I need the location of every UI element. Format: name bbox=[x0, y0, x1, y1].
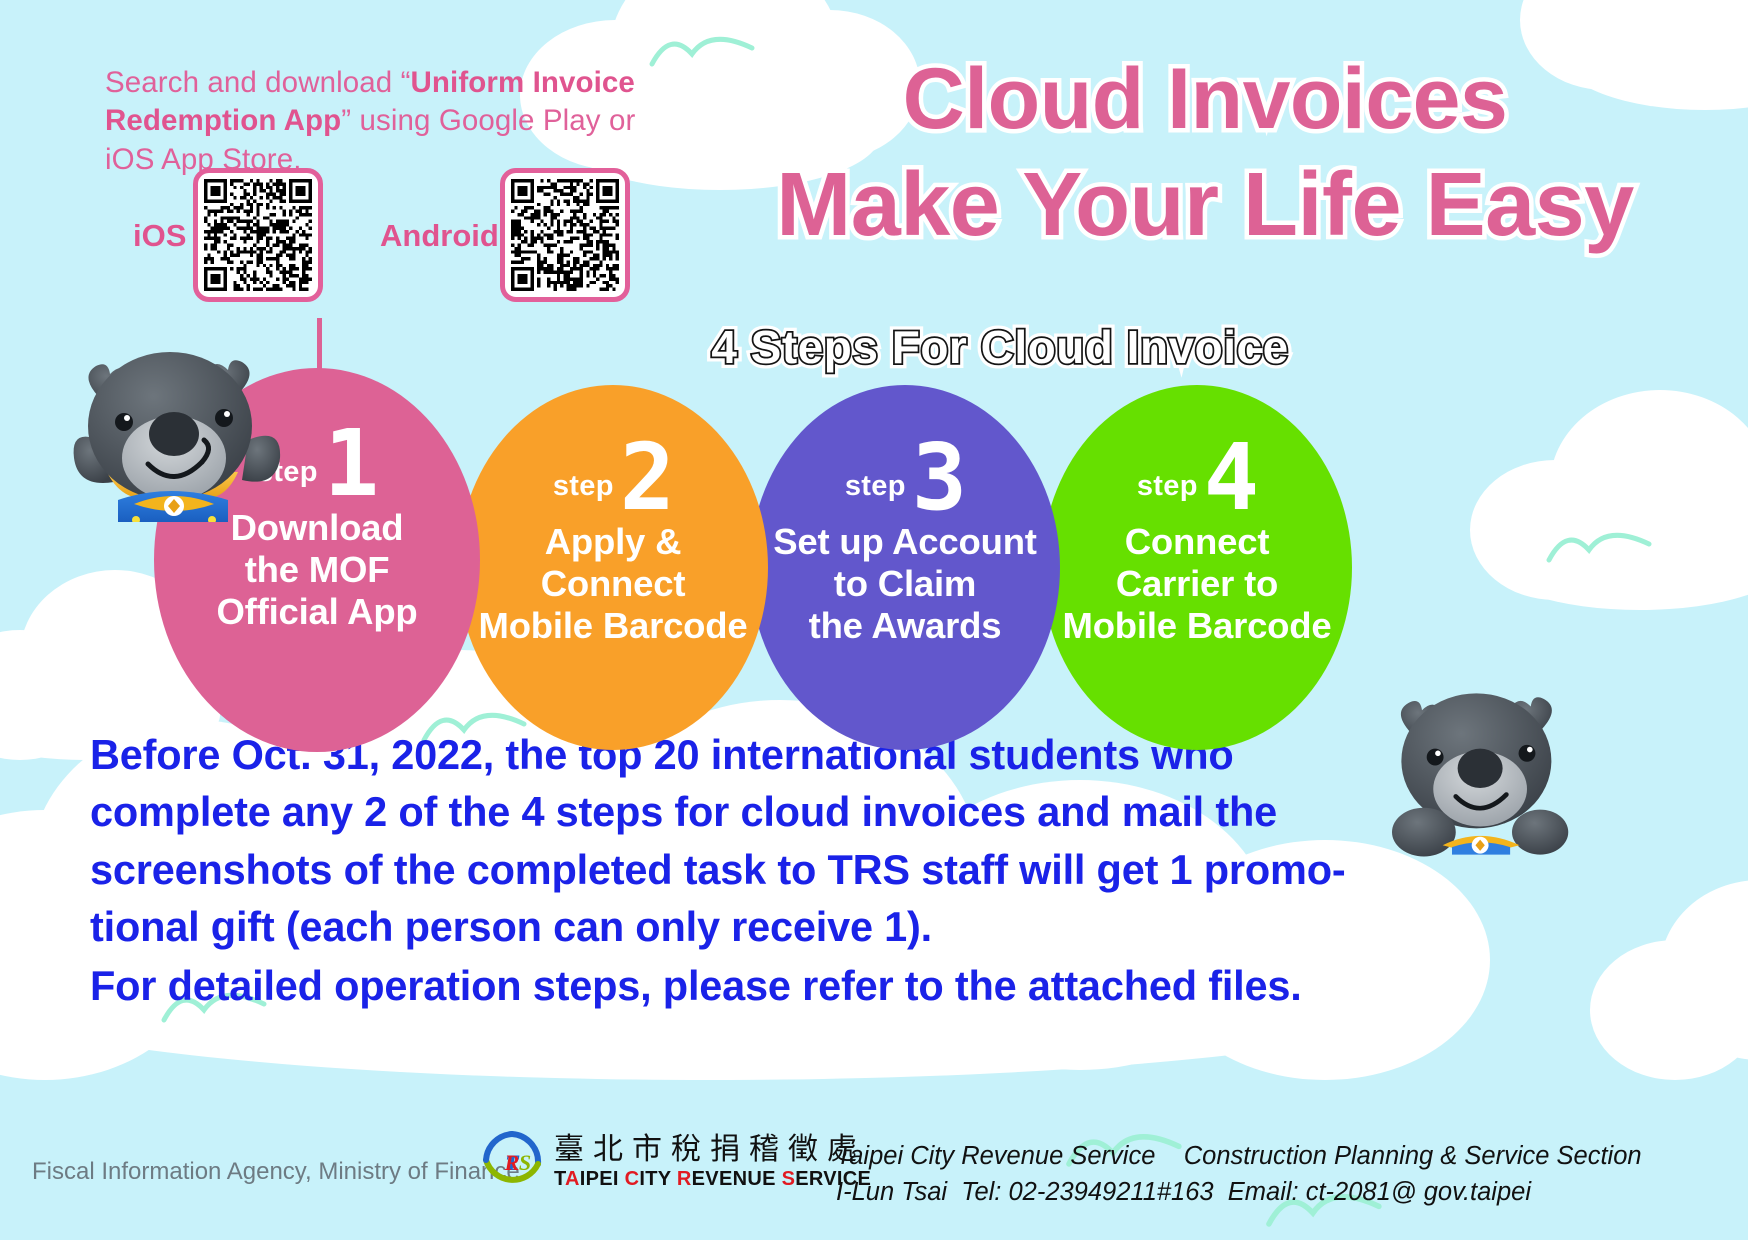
step-2-label: Apply & Connect Mobile Barcode bbox=[479, 521, 748, 646]
title-line-2: Make Your Life Easy bbox=[690, 151, 1720, 259]
qr-label-ios: iOS bbox=[133, 218, 186, 254]
svg-text:S: S bbox=[519, 1150, 531, 1175]
step-3-number: 3 bbox=[912, 440, 965, 515]
footer-agency: Fiscal Information Agency, Ministry of F… bbox=[32, 1158, 520, 1186]
step-3-label: Set up Account to Claim the Awards bbox=[773, 521, 1037, 646]
step-3-number-row: step 3 bbox=[845, 440, 965, 515]
cloud-far-right-low bbox=[1590, 880, 1748, 1080]
bird-icon-right-cloud bbox=[1540, 520, 1660, 570]
app-download-note: Search and download “Uniform Invoice Red… bbox=[105, 64, 680, 179]
step-3-word: step bbox=[845, 472, 906, 501]
poster-canvas: Search and download “Uniform Invoice Red… bbox=[0, 0, 1748, 1240]
footer-contact: Taipei City Revenue Service Construction… bbox=[836, 1138, 1736, 1210]
step-1-number: 1 bbox=[324, 426, 377, 501]
title-line-1: Cloud Invoices bbox=[903, 51, 1508, 147]
step-4-number: 4 bbox=[1204, 440, 1257, 515]
step-circle-3[interactable]: step 3 Set up Account to Claim the Award… bbox=[750, 385, 1060, 750]
footer-contact-line-1: Taipei City Revenue Service Construction… bbox=[836, 1138, 1736, 1174]
qr-label-android: Android bbox=[380, 218, 499, 254]
promo-text: Before Oct. 31, 2022, the top 20 interna… bbox=[90, 726, 1380, 1014]
step-circle-2[interactable]: step 2 Apply & Connect Mobile Barcode bbox=[458, 385, 768, 750]
step-circle-4[interactable]: step 4 Connect Carrier to Mobile Barcode bbox=[1042, 385, 1352, 750]
trs-logo: T S R 臺北市稅捐稽徵處 TAIPEI CITY REVENUE SERVI… bbox=[480, 1130, 871, 1194]
promo-line-5: For detailed operation steps, please ref… bbox=[90, 957, 1380, 1014]
promo-line-3: screenshots of the completed task to TRS… bbox=[90, 841, 1380, 898]
promo-line-4: tional gift (each person can only receiv… bbox=[90, 898, 1380, 955]
footer-contact-line-2: I-Lun Tsai Tel: 02-23949211#163 Email: c… bbox=[836, 1174, 1736, 1210]
step-4-number-row: step 4 bbox=[1137, 440, 1257, 515]
note-prefix: Search and download “ bbox=[105, 66, 411, 99]
trs-logo-chinese: 臺北市稅捐稽徵處 bbox=[554, 1135, 871, 1165]
qr-code-row: iOS Android bbox=[105, 168, 685, 308]
step-2-number: 2 bbox=[620, 440, 673, 515]
page-title: Cloud Invoices Make Your Life Easy bbox=[690, 48, 1720, 259]
trs-logo-text: 臺北市稅捐稽徵處 TAIPEI CITY REVENUE SERVICE bbox=[554, 1135, 871, 1189]
koala-mascot-top-left bbox=[52, 322, 292, 522]
steps-heading: 4 Steps For Cloud Invoice bbox=[680, 320, 1320, 374]
qr-code-ios[interactable] bbox=[193, 168, 323, 302]
trs-logo-english: TAIPEI CITY REVENUE SERVICE bbox=[554, 1169, 871, 1189]
koala-mascot-bottom-right bbox=[1362, 658, 1587, 858]
svg-text:R: R bbox=[504, 1150, 520, 1175]
step-2-word: step bbox=[553, 472, 614, 501]
step-2-number-row: step 2 bbox=[553, 440, 673, 515]
cloud-mid-right bbox=[1470, 380, 1748, 610]
step-1-label: Download the MOF Official App bbox=[216, 507, 417, 632]
step-4-label: Connect Carrier to Mobile Barcode bbox=[1063, 521, 1332, 646]
qr-code-android[interactable] bbox=[500, 168, 630, 302]
promo-line-2: complete any 2 of the 4 steps for cloud … bbox=[90, 783, 1380, 840]
trs-logo-icon: T S R bbox=[480, 1130, 544, 1194]
step-4-word: step bbox=[1137, 472, 1198, 501]
